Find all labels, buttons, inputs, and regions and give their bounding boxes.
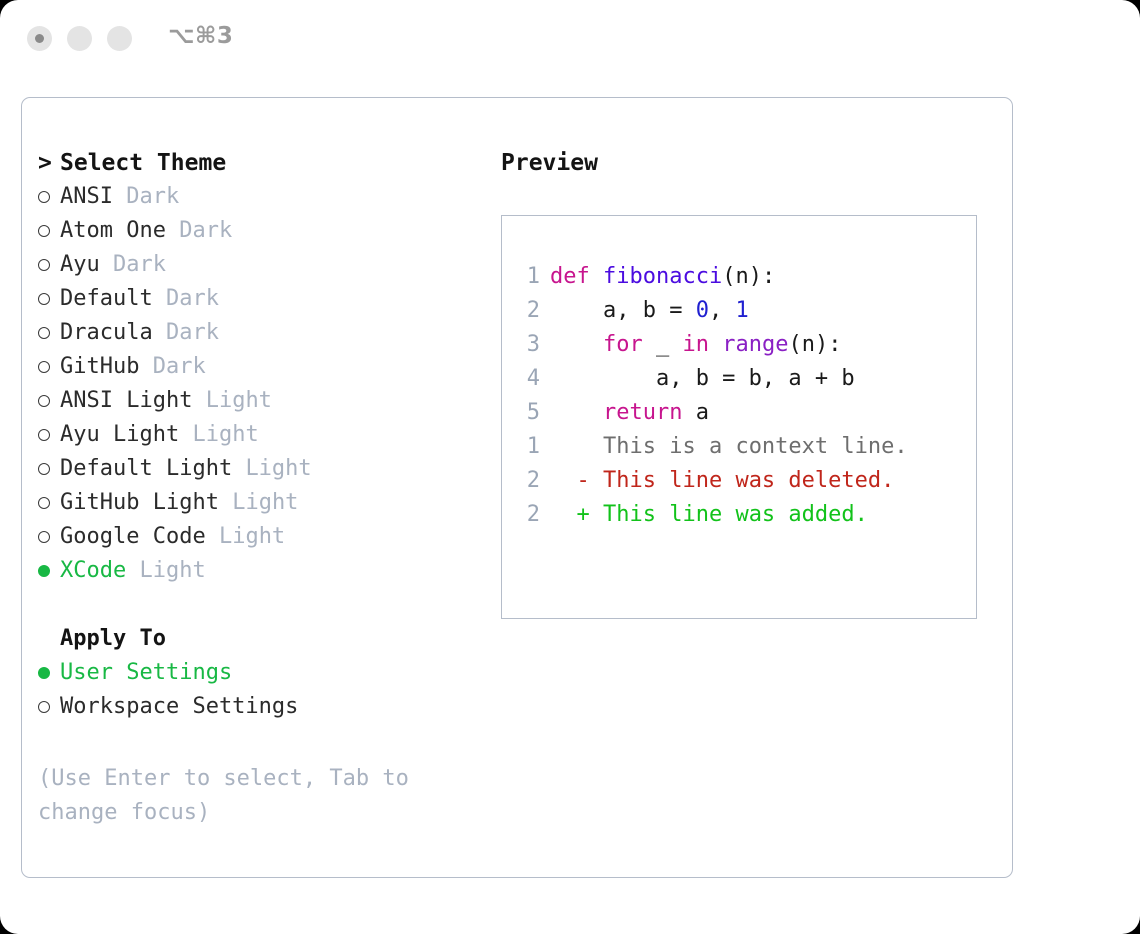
preview-column: Preview 1def fibonacci(n):2 a, b = 0, 13… [501, 146, 991, 619]
code-token [550, 400, 603, 425]
code-line-number: 2 [514, 294, 540, 328]
code-token: 1 [735, 298, 748, 323]
theme-option-label: Dracula [60, 320, 153, 345]
theme-variant-label: Light [192, 422, 258, 447]
theme-option-label: ANSI [60, 184, 113, 209]
window-close-button[interactable] [27, 26, 52, 51]
code-token: , [709, 298, 736, 323]
apply-to-header-label: Apply To [60, 626, 166, 651]
code-token: a, b = b, a + b [550, 366, 855, 391]
code-token: (n): [722, 264, 775, 289]
diff-line-text: This line was added. [590, 502, 868, 527]
keyboard-shortcut-label: ⌥⌘3 [168, 23, 233, 49]
theme-option-label: Ayu [60, 252, 100, 277]
theme-option-label: Google Code [60, 524, 206, 549]
theme-option-row[interactable]: Atom One Dark [38, 214, 478, 248]
theme-option-label: Default Light [60, 456, 232, 481]
theme-option-label: XCode [60, 558, 126, 583]
theme-variant-label: Dark [166, 320, 219, 345]
code-token: fibonacci [603, 264, 722, 289]
code-token: _ [643, 332, 683, 357]
select-theme-header-label: Select Theme [60, 150, 226, 176]
diff-sign: - [550, 468, 590, 493]
theme-option-row[interactable]: Ayu Dark [38, 248, 478, 282]
code-token: for [603, 332, 643, 357]
list-spacer [38, 588, 478, 622]
code-line: 2 a, b = 0, 1 [514, 294, 855, 328]
diff-line-number: 2 [514, 464, 540, 498]
theme-option-row[interactable]: Dracula Dark [38, 316, 478, 350]
apply-to-header: Apply To [38, 622, 478, 656]
theme-option-label: GitHub Light [60, 490, 219, 515]
code-token: a, b = [550, 298, 696, 323]
theme-option-row[interactable]: Google Code Light [38, 520, 478, 554]
theme-variant-label: Dark [153, 354, 206, 379]
theme-variant-label: Light [232, 490, 298, 515]
preview-box: 1def fibonacci(n):2 a, b = 0, 13 for _ i… [501, 215, 977, 619]
code-token: return [603, 400, 682, 425]
code-line-text: for _ in range(n): [550, 332, 841, 357]
apply-to-option-row[interactable]: User Settings [38, 656, 478, 690]
diff-line-body: + This line was added. [550, 502, 868, 527]
theme-option-label: Default [60, 286, 153, 311]
diff-line-text: This line was deleted. [590, 468, 895, 493]
diff-line: 2 - This line was deleted. [514, 464, 908, 498]
diff-line: 1 This is a context line. [514, 430, 908, 464]
keyboard-hint-text: (Use Enter to select, Tab to change focu… [38, 762, 438, 830]
theme-option-label: ANSI Light [60, 388, 192, 413]
apply-to-option-row[interactable]: Workspace Settings [38, 690, 478, 724]
code-line-text: def fibonacci(n): [550, 264, 775, 289]
theme-variant-label: Light [139, 558, 205, 583]
apply-to-option-label: Workspace Settings [60, 694, 298, 719]
theme-picker-panel: >Select Theme ANSI DarkAtom One DarkAyu … [21, 97, 1013, 878]
code-token: range [722, 332, 788, 357]
diff-sign: + [550, 502, 590, 527]
code-line: 1def fibonacci(n): [514, 260, 855, 294]
theme-variant-label: Dark [113, 252, 166, 277]
select-theme-header: >Select Theme [38, 146, 478, 180]
diff-line-text: This is a context line. [590, 434, 908, 459]
apply-to-options-list[interactable]: User SettingsWorkspace Settings [38, 656, 478, 724]
diff-sample: 1 This is a context line.2 - This line w… [514, 430, 908, 532]
code-line-number: 4 [514, 362, 540, 396]
code-sample: 1def fibonacci(n):2 a, b = 0, 13 for _ i… [514, 260, 855, 430]
apply-to-option-label: User Settings [60, 660, 232, 685]
theme-option-label: GitHub [60, 354, 139, 379]
title-bar: ⌥⌘3 [0, 0, 1140, 78]
theme-option-row[interactable]: XCode Light [38, 554, 478, 588]
theme-option-row[interactable]: Default Dark [38, 282, 478, 316]
theme-option-row[interactable]: ANSI Dark [38, 180, 478, 214]
code-line: 3 for _ in range(n): [514, 328, 855, 362]
code-line-text: a, b = 0, 1 [550, 298, 749, 323]
diff-line-body: - This line was deleted. [550, 468, 894, 493]
code-line-text: a, b = b, a + b [550, 366, 855, 391]
code-token: (n): [788, 332, 841, 357]
theme-option-row[interactable]: Ayu Light Light [38, 418, 478, 452]
theme-options-list[interactable]: ANSI DarkAtom One DarkAyu DarkDefault Da… [38, 180, 478, 588]
preview-title: Preview [501, 146, 991, 180]
theme-option-row[interactable]: GitHub Light Light [38, 486, 478, 520]
app-window: ⌥⌘3 >Select Theme ANSI DarkAtom One Dark… [0, 0, 1140, 934]
code-line: 5 return a [514, 396, 855, 430]
code-token: def [550, 264, 603, 289]
code-line-number: 3 [514, 328, 540, 362]
code-line-number: 5 [514, 396, 540, 430]
code-token [709, 332, 722, 357]
theme-variant-label: Light [219, 524, 285, 549]
theme-variant-label: Light [245, 456, 311, 481]
prompt-caret-icon: > [38, 146, 60, 180]
code-line-text: return a [550, 400, 709, 425]
code-line: 4 a, b = b, a + b [514, 362, 855, 396]
window-minimize-button[interactable] [67, 26, 92, 51]
diff-line-number: 1 [514, 430, 540, 464]
window-maximize-button[interactable] [107, 26, 132, 51]
theme-option-row[interactable]: ANSI Light Light [38, 384, 478, 418]
code-token: a [682, 400, 709, 425]
theme-option-label: Atom One [60, 218, 166, 243]
diff-line-body: This is a context line. [550, 434, 908, 459]
theme-variant-label: Light [206, 388, 272, 413]
code-token: 0 [696, 298, 709, 323]
theme-option-label: Ayu Light [60, 422, 179, 447]
code-token [550, 332, 603, 357]
code-token: in [682, 332, 709, 357]
theme-option-row[interactable]: Default Light Light [38, 452, 478, 486]
theme-variant-label: Dark [166, 286, 219, 311]
diff-line: 2 + This line was added. [514, 498, 908, 532]
theme-list-column: >Select Theme ANSI DarkAtom One DarkAyu … [38, 146, 478, 724]
theme-variant-label: Dark [126, 184, 179, 209]
code-line-number: 1 [514, 260, 540, 294]
theme-variant-label: Dark [179, 218, 232, 243]
theme-option-row[interactable]: GitHub Dark [38, 350, 478, 384]
diff-line-number: 2 [514, 498, 540, 532]
diff-sign [550, 434, 590, 459]
